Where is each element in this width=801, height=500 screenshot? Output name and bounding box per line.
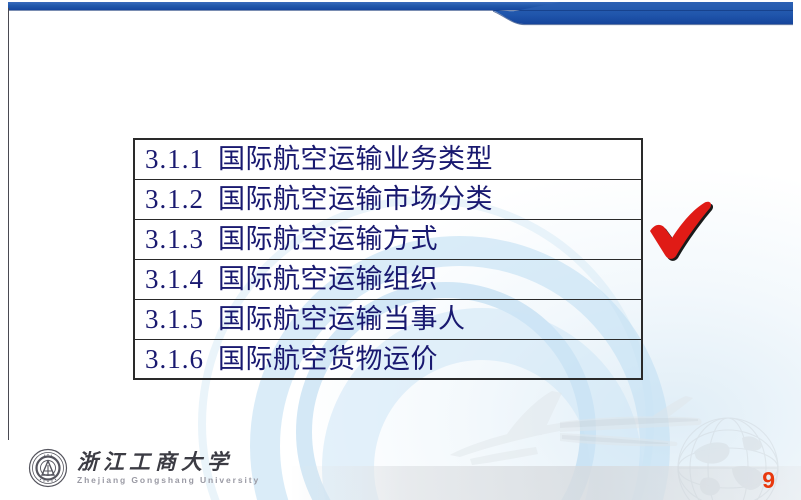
topic-number-2: 3.1.2 [145,184,204,214]
top-banner [0,0,801,34]
check-mark-icon [648,200,720,264]
topic-number-5: 3.1.5 [145,304,204,334]
university-logo: 浙江工商大学 Zhejiang Gongshang University [28,444,236,492]
topic-label-3: 国际航空运输方式 [218,224,438,254]
page-number: 9 [762,469,775,492]
topic-number-3: 3.1.3 [145,224,204,254]
topic-label-1: 国际航空运输业务类型 [218,144,493,174]
table-row[interactable]: 3.1.6国际航空货物运价 [134,339,642,379]
bottom-grey-band [290,466,801,500]
slide-canvas: 3.1.1国际航空运输业务类型 3.1.2国际航空运输市场分类 3.1.3国际航… [0,0,801,500]
left-border-rule [8,8,9,440]
airplane-watermark [410,385,710,485]
topic-label-5: 国际航空运输当事人 [218,304,466,334]
table-row[interactable]: 3.1.1国际航空运输业务类型 [134,139,642,179]
topic-label-6: 国际航空货物运价 [218,344,438,374]
table-row[interactable]: 3.1.2国际航空运输市场分类 [134,179,642,219]
topics-table: 3.1.1国际航空运输业务类型 3.1.2国际航空运输市场分类 3.1.3国际航… [133,138,643,380]
table-row[interactable]: 3.1.3国际航空运输方式 [134,219,642,259]
university-name-cn: 浙江工商大学 [77,452,260,473]
table-row[interactable]: 3.1.5国际航空运输当事人 [134,299,642,339]
topic-number-6: 3.1.6 [145,344,204,374]
table-row[interactable]: 3.1.4国际航空运输组织 [134,259,642,299]
topic-label-4: 国际航空运输组织 [218,264,438,294]
topic-cell-5[interactable]: 3.1.5国际航空运输当事人 [134,299,642,339]
topic-cell-1[interactable]: 3.1.1国际航空运输业务类型 [134,139,642,179]
topic-cell-4[interactable]: 3.1.4国际航空运输组织 [134,259,642,299]
topic-cell-3[interactable]: 3.1.3国际航空运输方式 [134,219,642,259]
topic-label-2: 国际航空运输市场分类 [218,184,493,214]
university-seal-icon [28,448,68,488]
topic-cell-2[interactable]: 3.1.2国际航空运输市场分类 [134,179,642,219]
university-name-block: 浙江工商大学 Zhejiang Gongshang University [77,452,260,485]
topic-number-1: 3.1.1 [145,144,204,174]
university-name-en: Zhejiang Gongshang University [77,476,260,485]
topic-number-4: 3.1.4 [145,264,204,294]
topic-cell-6[interactable]: 3.1.6国际航空货物运价 [134,339,642,379]
